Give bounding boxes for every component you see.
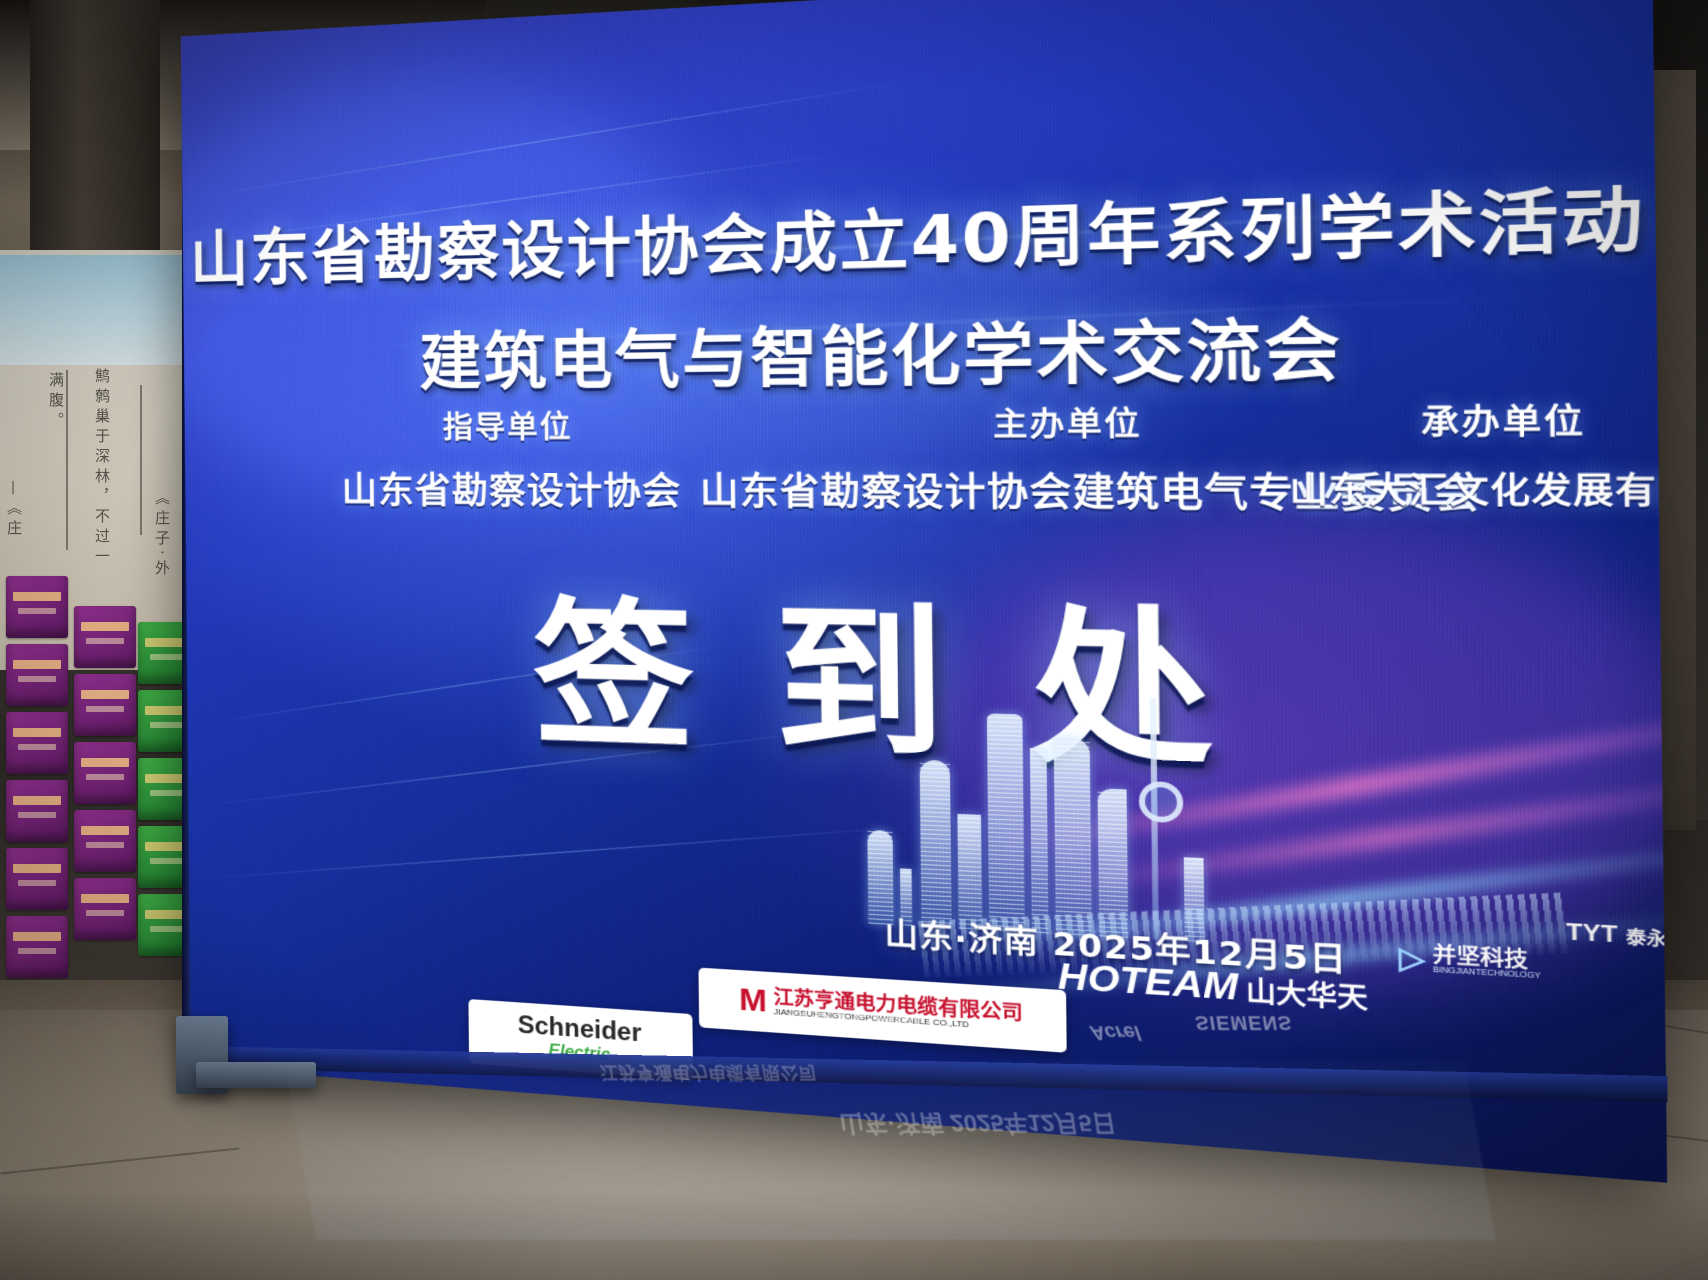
organization-organizer: 承办单位 山东大汇文化发展有限公司 xyxy=(1288,393,1667,513)
organization-guidance: 指导单位 山东省勘察设计协会 xyxy=(288,401,740,516)
organization-role: 指导单位 xyxy=(288,401,739,447)
floor-board-reflection xyxy=(284,1060,1496,1240)
organizations-row: 指导单位 山东省勘察设计协会 主办单位 山东省勘察设计协会建筑电气专业委员会 承… xyxy=(253,394,1619,549)
led-backdrop-board: 山东省勘察设计协会成立40周年系列学术活动 建筑电气与智能化学术交流会 指导单位… xyxy=(181,0,1667,1183)
reflection-text-date: 山东·济南 2025年12月5日 xyxy=(837,1108,1119,1143)
skyline-tower xyxy=(987,713,1025,932)
organization-name: 山东大汇文化发展有限公司 xyxy=(1289,461,1667,514)
reflection-text-siemens: SIEMENS xyxy=(1193,1010,1294,1033)
sponsor-mark: M xyxy=(739,982,767,1020)
sponsor-mark-icon: ▷ xyxy=(1399,939,1425,976)
reflection-text-acrel: Acrel xyxy=(1088,1020,1142,1043)
skyline-tower xyxy=(1054,738,1092,936)
reflection-text-hengtong: 江苏亨通电力电缆有限公司 xyxy=(598,1060,818,1086)
sponsor-subname: 泰永长征 xyxy=(1626,923,1668,952)
event-title-line1: 山东省勘察设计协会成立40周年系列学术活动 xyxy=(183,162,1657,299)
sponsor-name: TYT xyxy=(1566,919,1618,949)
board-content: 山东省勘察设计协会成立40周年系列学术活动 建筑电气与智能化学术交流会 指导单位… xyxy=(181,0,1667,1183)
sponsor-name: Schneider xyxy=(518,1011,642,1049)
sponsor-name: HOTEAM xyxy=(1058,955,1239,1010)
tv-tower-sphere xyxy=(1139,781,1184,823)
organization-name: 山东省勘察设计协会 xyxy=(289,462,740,517)
screenshot-canvas: 满腹。 鹪鹩巢于深林，不过一 《庄子·外 —《庄 xyxy=(0,0,1708,1280)
organization-role: 承办单位 xyxy=(1288,393,1667,445)
reflection-text-hoteam: HOTEAM xyxy=(787,1005,922,1039)
event-title-line2: 建筑电气与智能化学术交流会 xyxy=(184,289,1658,405)
